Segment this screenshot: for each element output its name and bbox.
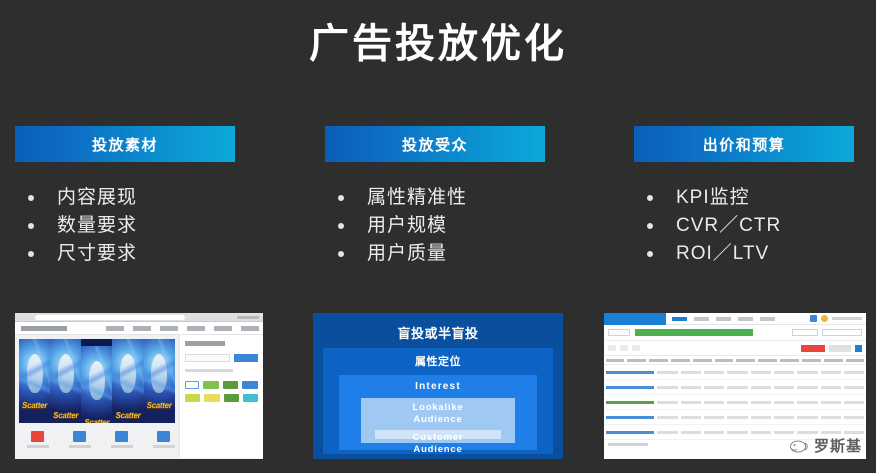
bullet-dot-icon [28,251,34,257]
bullet-list-bid-budget: KPI监控 CVR／CTR ROI／LTV [634,184,854,268]
table-cell [821,401,841,404]
dashboard-brand-logo [604,313,666,325]
watermark-text: 罗斯基 [814,435,862,456]
column-header [606,359,625,362]
funnel-level-1: 属性定位 Interest Lookalike Audience Custome… [323,348,553,454]
funnel-label-customer-line2: Audience [375,444,501,456]
bullet-text: ROI／LTV [676,243,769,264]
table-cell [821,371,841,374]
list-item: 用户规模 [325,212,545,240]
funnel-label-blind-targeting: 盲投或半盲投 [313,319,563,348]
browser-content: Scatter Scatter Scatter Scatter Scatter [15,335,263,458]
toolbar-selects [792,329,862,336]
list-item: KPI监控 [634,184,854,212]
table-cell [657,386,677,389]
bullet-list-audience: 属性精准性 用户规模 用户质量 [325,184,545,268]
creative-title: Scatter [19,401,50,410]
tab-item[interactable] [716,317,731,321]
table-cell [774,386,794,389]
list-item: CVR／CTR [634,212,854,240]
column-header [671,359,690,362]
tag-chip[interactable] [224,394,239,402]
bullet-text: 用户规模 [367,215,447,236]
nav-item[interactable] [214,326,232,331]
tag-chip[interactable] [223,381,239,389]
table-cell [751,401,771,404]
list-item: 尺寸要求 [15,240,235,268]
table-cell [681,431,701,434]
list-item: 用户质量 [325,240,545,268]
pagination-info [608,443,648,446]
slide-root: 广告投放优化 投放素材 内容展现 数量要求 尺寸要求 投放受众 属性精准性 用户… [0,0,876,473]
table-cell [751,416,771,419]
funnel-level-4: Customer Audience [375,430,501,439]
table-cell [657,401,677,404]
bullet-text: 属性精准性 [367,187,467,208]
asset-type-image[interactable] [69,431,91,448]
table-cell [727,431,747,434]
table-cell [844,386,864,389]
table-cell [797,416,817,419]
tab-item[interactable] [760,317,775,321]
bullet-text: 数量要求 [57,215,137,236]
columns-container: 投放素材 内容展现 数量要求 尺寸要求 投放受众 属性精准性 用户规模 用户质量… [0,126,876,296]
video-icon [31,431,44,442]
table-row[interactable] [604,410,866,425]
asset-label [111,445,133,448]
creative-tile[interactable]: Scatter [112,339,143,423]
table-cell [751,371,771,374]
column-header [627,359,646,362]
table-cell [657,416,677,419]
column-header [693,359,712,362]
bulk-action-button[interactable] [632,345,640,351]
bulk-action-button[interactable] [608,345,616,351]
banner-icon [115,431,128,442]
creative-title: Scatter [50,411,81,420]
search-row [185,354,258,362]
tab-item[interactable] [738,317,753,321]
browser-chrome-bar [15,313,263,322]
funnel-level-0: 盲投或半盲投 属性定位 Interest Lookalike Audience … [313,313,563,459]
creative-settings-panel [179,335,263,458]
table-cell [727,416,747,419]
creative-tile[interactable]: Scatter [144,339,175,423]
bulk-action-button[interactable] [620,345,628,351]
table-row[interactable] [604,380,866,395]
column-header [780,359,799,362]
search-field[interactable] [822,329,862,336]
asset-label [69,445,91,448]
tag-chip[interactable] [185,394,200,402]
table-cell [821,416,841,419]
asset-label [27,445,49,448]
bullet-text: 用户质量 [367,243,447,264]
image-icon [73,431,86,442]
list-icon [157,431,170,442]
table-cell [657,431,677,434]
tag-chip[interactable] [242,381,258,389]
tag-chip[interactable] [204,394,220,402]
campaign-name-cell [606,386,655,389]
search-input[interactable] [185,354,230,362]
column-creative: 投放素材 内容展现 数量要求 尺寸要求 [15,126,235,268]
whale-logo-icon [787,438,811,454]
funnel-label-attribute-targeting: 属性定位 [323,353,553,375]
site-nav-menu[interactable] [106,326,259,331]
table-cell [821,386,841,389]
table-cell [681,386,701,389]
table-cell [797,431,817,434]
search-button[interactable] [234,354,258,362]
nav-item[interactable] [160,326,178,331]
site-logo [21,326,67,331]
table-cell [774,371,794,374]
bullet-text: 内容展现 [57,187,137,208]
column-header [758,359,777,362]
column-header [846,359,865,362]
date-select[interactable] [792,329,818,336]
asset-type-banner[interactable] [111,431,133,448]
site-nav-bar [15,322,263,335]
column-header [715,359,734,362]
table-row[interactable] [604,365,866,380]
column-header [736,359,755,362]
column-bid-budget: 出价和预算 KPI监控 CVR／CTR ROI／LTV [634,126,854,268]
funnel-label-lookalike-line1: Lookalike [361,402,515,414]
asset-type-video[interactable] [27,431,49,448]
thumbnail-dashboard: 罗斯基 [604,313,866,459]
list-item: 属性精准性 [325,184,545,212]
creative-preview-pane: Scatter Scatter Scatter Scatter Scatter [15,335,179,458]
watermark: 罗斯基 [787,435,862,456]
creative-tile[interactable]: Scatter [81,346,112,423]
table-cell [704,431,724,434]
column-header-audience: 投放受众 [325,126,545,162]
browser-window-controls-icon[interactable] [237,316,259,319]
status-filter-bar[interactable] [635,329,753,336]
panel-meta-text [185,369,233,372]
tag-row [185,394,258,402]
table-row[interactable] [604,395,866,410]
asset-type-row [19,423,175,448]
tab-item[interactable] [694,317,709,321]
table-cell [797,401,817,404]
table-cell [657,371,677,374]
list-item: 数量要求 [15,212,235,240]
dashboard-header-right [810,315,866,322]
dashboard-window: 罗斯基 [604,313,866,459]
funnel-label-interest: Interest [339,381,537,398]
campaign-name-cell [606,431,655,434]
table-cell [727,371,747,374]
primary-action-button[interactable] [801,345,825,352]
creative-title: Scatter [144,401,175,410]
account-name [832,317,862,320]
table-cell [681,416,701,419]
asset-type-list[interactable] [153,431,175,448]
nav-item[interactable] [133,326,151,331]
bullet-dot-icon [338,223,344,229]
column-header-creative: 投放素材 [15,126,235,162]
table-cell [844,431,864,434]
dashboard-header [604,313,866,325]
creative-grid: Scatter Scatter Scatter Scatter Scatter [19,339,175,423]
bullet-dot-icon [338,195,344,201]
table-cell [774,431,794,434]
creative-tile[interactable]: Scatter [50,339,81,423]
tag-chip[interactable] [203,381,219,389]
dashboard-toolbar [604,325,866,341]
panel-title [185,341,225,346]
page-title: 广告投放优化 [0,22,876,66]
browser-window: Scatter Scatter Scatter Scatter Scatter [15,313,263,459]
table-cell [704,401,724,404]
asset-label [153,445,175,448]
thumbnail-audience-funnel: 盲投或半盲投 属性定位 Interest Lookalike Audience … [313,313,563,459]
tab-item[interactable] [672,317,687,321]
campaign-name-cell [606,416,655,419]
bullet-dot-icon [338,251,344,257]
table-cell [844,401,864,404]
table-cell [681,371,701,374]
funnel-level-3: Lookalike Audience Customer Audience [361,398,515,443]
tag-chip[interactable] [185,381,199,389]
table-cell [704,416,724,419]
bullet-text: CVR／CTR [676,215,781,236]
column-header [824,359,843,362]
column-header-bid-budget: 出价和预算 [634,126,854,162]
bullet-text: 尺寸要求 [57,243,137,264]
table-cell [751,386,771,389]
nav-item[interactable] [241,326,259,331]
bullet-dot-icon [647,195,653,201]
table-cell [681,401,701,404]
bullet-dot-icon [647,223,653,229]
thumbnails-container: Scatter Scatter Scatter Scatter Scatter [0,313,876,459]
tag-chip[interactable] [243,394,258,402]
list-item: 内容展现 [15,184,235,212]
bullet-list-creative: 内容展现 数量要求 尺寸要求 [15,184,235,268]
funnel-label-lookalike-line2: Audience [361,414,515,426]
table-cell [774,401,794,404]
dashboard-subtoolbar [604,341,866,355]
funnel-level-2: Interest Lookalike Audience Customer Aud… [339,375,537,450]
column-audience: 投放受众 属性精准性 用户规模 用户质量 [325,126,545,268]
table-cell [751,431,771,434]
funnel-label-customer-line1: Customer [375,432,501,444]
creative-title: Scatter [81,418,112,423]
list-item: ROI／LTV [634,240,854,268]
bullet-dot-icon [28,195,34,201]
tag-row [185,381,258,389]
notifications-icon[interactable] [810,315,817,322]
table-header-row [604,355,866,365]
table-cell [727,401,747,404]
column-header [649,359,668,362]
table-cell [774,416,794,419]
campaign-name-cell [606,401,655,404]
settings-icon[interactable] [855,345,862,352]
table-cell [844,371,864,374]
bullet-text: KPI监控 [676,187,750,208]
table-cell [797,371,817,374]
table-cell [844,416,864,419]
bullet-dot-icon [647,251,653,257]
secondary-action-button[interactable] [829,345,851,352]
creative-title: Scatter [112,411,143,420]
table-cell [797,386,817,389]
table-cell [821,431,841,434]
bullet-dot-icon [28,223,34,229]
dashboard-tabs [672,317,775,321]
nav-item[interactable] [187,326,205,331]
browser-url-bar[interactable] [35,315,185,320]
table-cell [704,386,724,389]
column-header [802,359,821,362]
table-cell [704,371,724,374]
thumbnail-creative-browser: Scatter Scatter Scatter Scatter Scatter [15,313,263,459]
avatar[interactable] [821,315,828,322]
campaign-name-cell [606,371,655,374]
table-cell [727,386,747,389]
creative-tile[interactable]: Scatter [19,339,50,423]
filter-button[interactable] [608,329,630,336]
nav-item[interactable] [106,326,124,331]
